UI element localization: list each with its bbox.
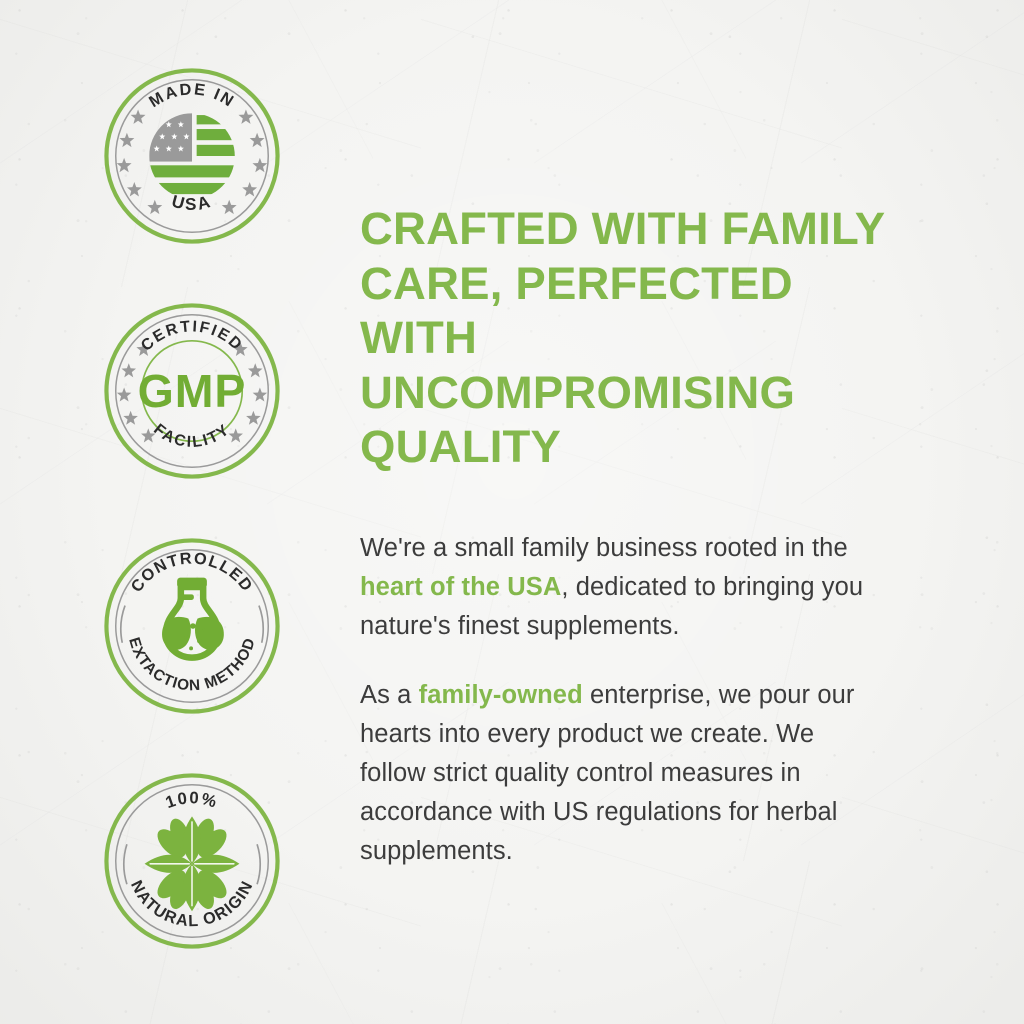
highlighted-phrase: heart of the USA <box>360 573 561 601</box>
badge-center-label: GMP <box>138 365 247 417</box>
badge-gmp-certified-facility: GMP CERTIFIED FACILITY <box>99 298 285 484</box>
highlighted-phrase: family-owned <box>419 681 583 709</box>
badge-controlled-extraction-method: CONTROLLED EXTACTION METHOD <box>99 533 285 719</box>
decorative-arc-right <box>257 844 260 884</box>
usa-flag-circle-icon <box>147 113 240 194</box>
trust-badge-column: MADE IN USA <box>99 63 289 954</box>
paragraph-text: We're a small family business rooted in … <box>360 534 848 562</box>
decorative-arc-left <box>124 844 127 884</box>
copy-column: CRAFTED WITH FAMILY CARE, PERFECTED WITH… <box>360 202 920 871</box>
page-headline: CRAFTED WITH FAMILY CARE, PERFECTED WITH… <box>360 202 912 475</box>
badge-bottom-label: USA <box>170 191 215 214</box>
badge-made-in-usa: MADE IN USA <box>99 63 285 249</box>
decorative-arc-left <box>121 606 125 643</box>
body-copy: We're a small family business rooted in … <box>360 529 880 871</box>
badge-top-label: 100% <box>163 788 220 812</box>
badge-natural-origin: 100% NATURAL ORIGIN <box>99 768 285 954</box>
flask-leaf-icon <box>162 578 224 658</box>
infographic-page: MADE IN USA <box>0 0 1024 1024</box>
badge-bottom-label: FACILITY <box>150 421 234 451</box>
decorative-arc-right <box>259 606 263 643</box>
leaf-rosette-icon <box>145 816 240 912</box>
body-paragraph-2: As a family-owned enterprise, we pour ou… <box>360 676 880 871</box>
body-paragraph-1: We're a small family business rooted in … <box>360 529 880 646</box>
badge-top-label: MADE IN <box>146 80 238 111</box>
badge-top-label: CERTIFIED <box>138 318 246 354</box>
paragraph-text: As a <box>360 681 419 709</box>
